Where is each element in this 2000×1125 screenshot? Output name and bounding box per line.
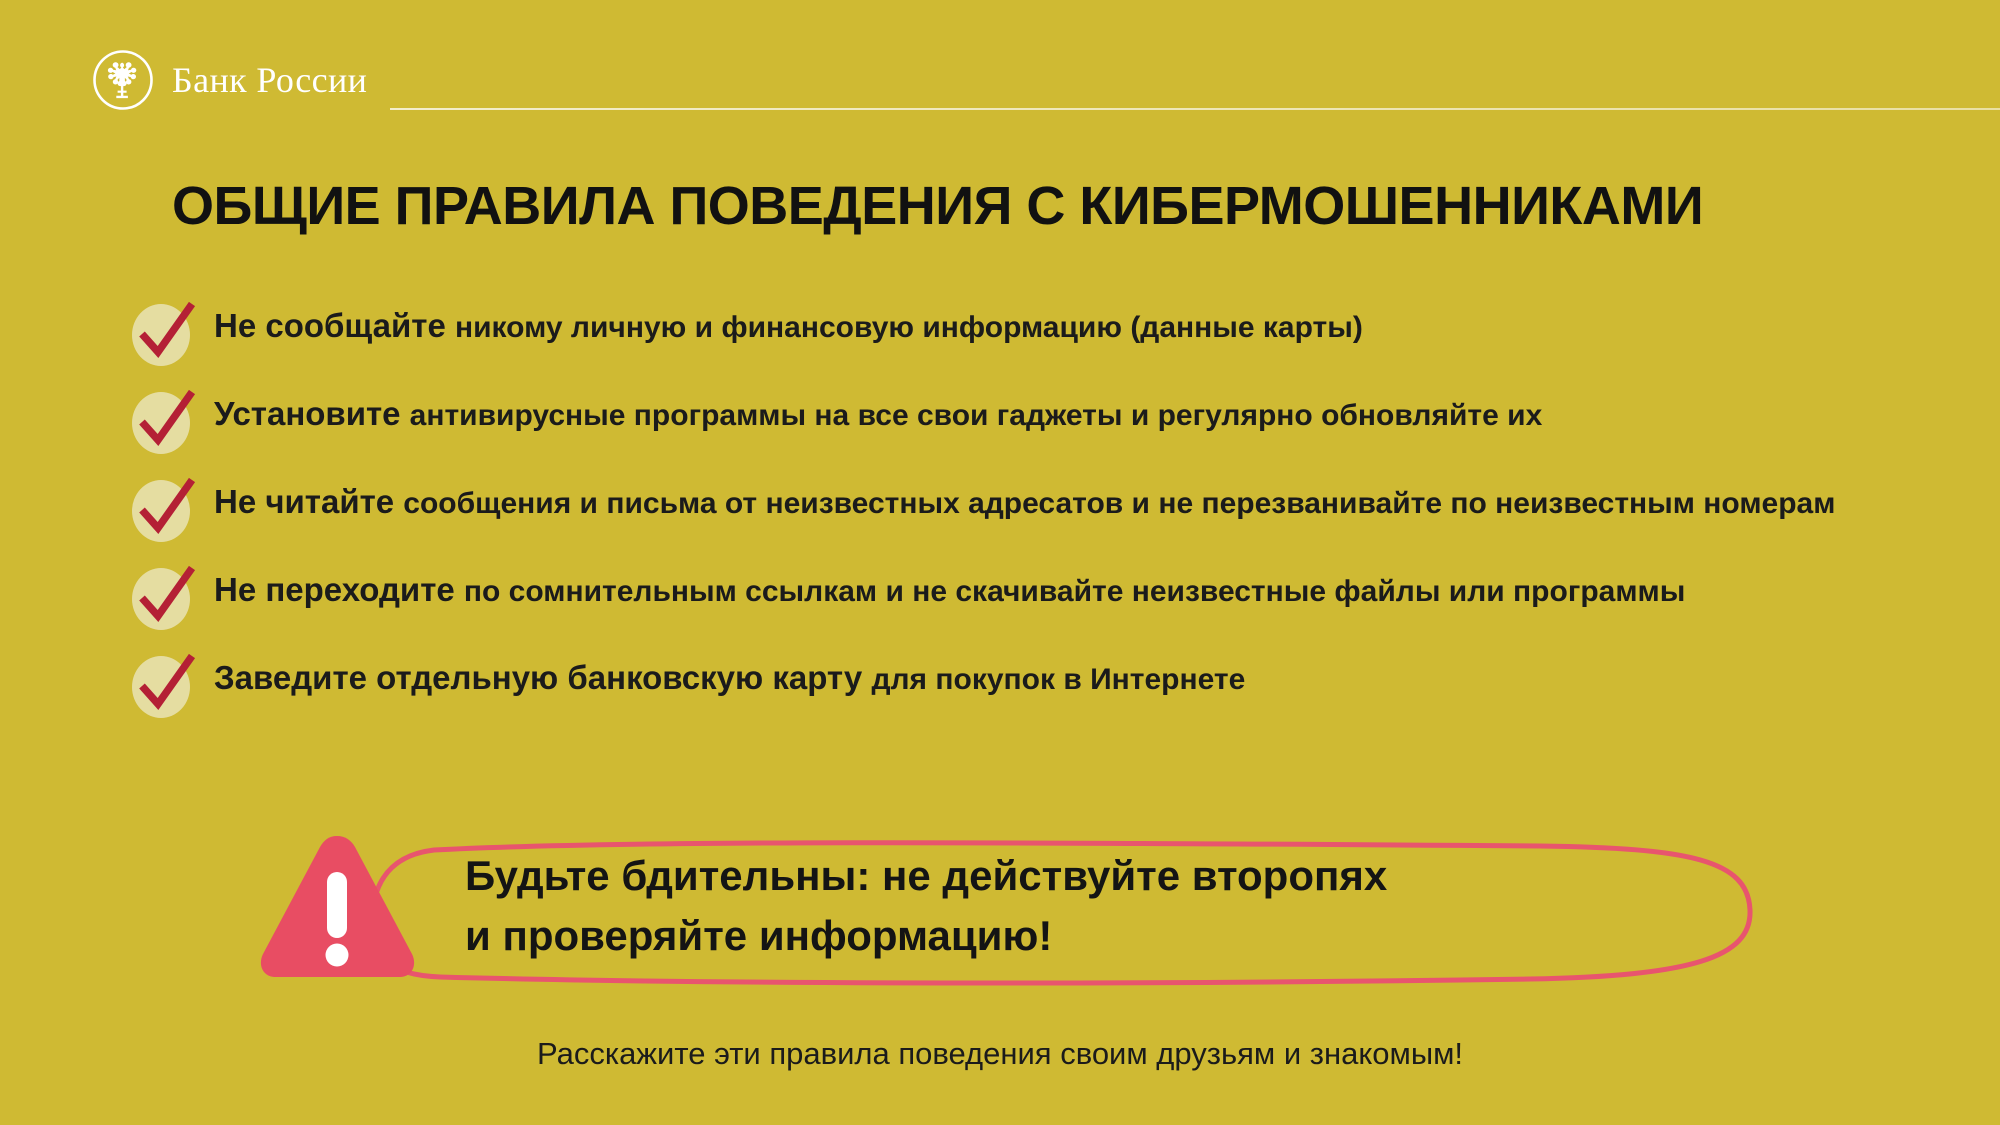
bank-of-russia-eagle-emblem-icon: [92, 49, 154, 111]
page-title: ОБЩИЕ ПРАВИЛА ПОВЕДЕНИЯ С КИБЕРМОШЕННИКА…: [172, 178, 1932, 235]
rule-rest: сообщения и письма от неизвестных адреса…: [403, 487, 1835, 520]
slide-root: Банк России ОБЩИЕ ПРАВИЛА ПОВЕДЕНИЯ С КИ…: [0, 0, 2000, 1125]
rule-text: Установите антивирусные программы на все…: [214, 388, 1918, 435]
check-mark-icon: [118, 388, 214, 460]
list-item: Не сообщайте никому личную и финансовую …: [118, 300, 1918, 372]
warning-text: Будьте бдительны: не действуйте второпях…: [465, 846, 1695, 965]
list-item: Установите антивирусные программы на все…: [118, 388, 1918, 460]
rule-rest: по сомнительным ссылкам и не скачивайте …: [464, 575, 1685, 608]
list-item: Не читайте сообщения и письма от неизвес…: [118, 476, 1918, 548]
rule-lead: Не читайте: [214, 483, 403, 520]
rules-list: Не сообщайте никому личную и финансовую …: [118, 300, 1918, 740]
check-mark-icon: [118, 476, 214, 548]
check-mark-icon: [118, 564, 214, 636]
warning-line-2: и проверяйте информацию!: [465, 906, 1695, 966]
list-item: Заведите отдельную банковскую карту для …: [118, 652, 1918, 724]
check-mark-icon: [118, 652, 214, 724]
warning-triangle-exclamation-icon: [255, 828, 420, 993]
rule-lead: Заведите отдельную банковскую карту: [214, 659, 871, 696]
rule-text: Не сообщайте никому личную и финансовую …: [214, 300, 1918, 347]
rule-rest: никому личную и финансовую информацию (д…: [455, 311, 1363, 344]
warning-banner: Будьте бдительны: не действуйте второпях…: [255, 820, 1765, 1000]
list-item: Не переходите по сомнительным ссылкам и …: [118, 564, 1918, 636]
warning-line-1: Будьте бдительны: не действуйте второпях: [465, 846, 1695, 906]
header-divider: [390, 108, 2000, 110]
rule-text: Не читайте сообщения и письма от неизвес…: [214, 476, 1918, 523]
brand-name: Банк России: [172, 62, 367, 98]
rule-rest: антивирусные программы на все свои гадже…: [410, 399, 1543, 432]
rule-text: Не переходите по сомнительным ссылкам и …: [214, 564, 1918, 611]
rule-lead: Не сообщайте: [214, 307, 455, 344]
rule-text: Заведите отдельную банковскую карту для …: [214, 652, 1918, 699]
rule-lead: Установите: [214, 395, 410, 432]
rule-lead: Не переходите: [214, 571, 464, 608]
check-mark-icon: [118, 300, 214, 372]
footer-note: Расскажите эти правила поведения своим д…: [0, 1036, 2000, 1072]
slide-header: Банк России: [0, 0, 2000, 120]
brand-logo: Банк России: [92, 50, 367, 110]
rule-rest: для покупок в Интернете: [871, 663, 1245, 696]
